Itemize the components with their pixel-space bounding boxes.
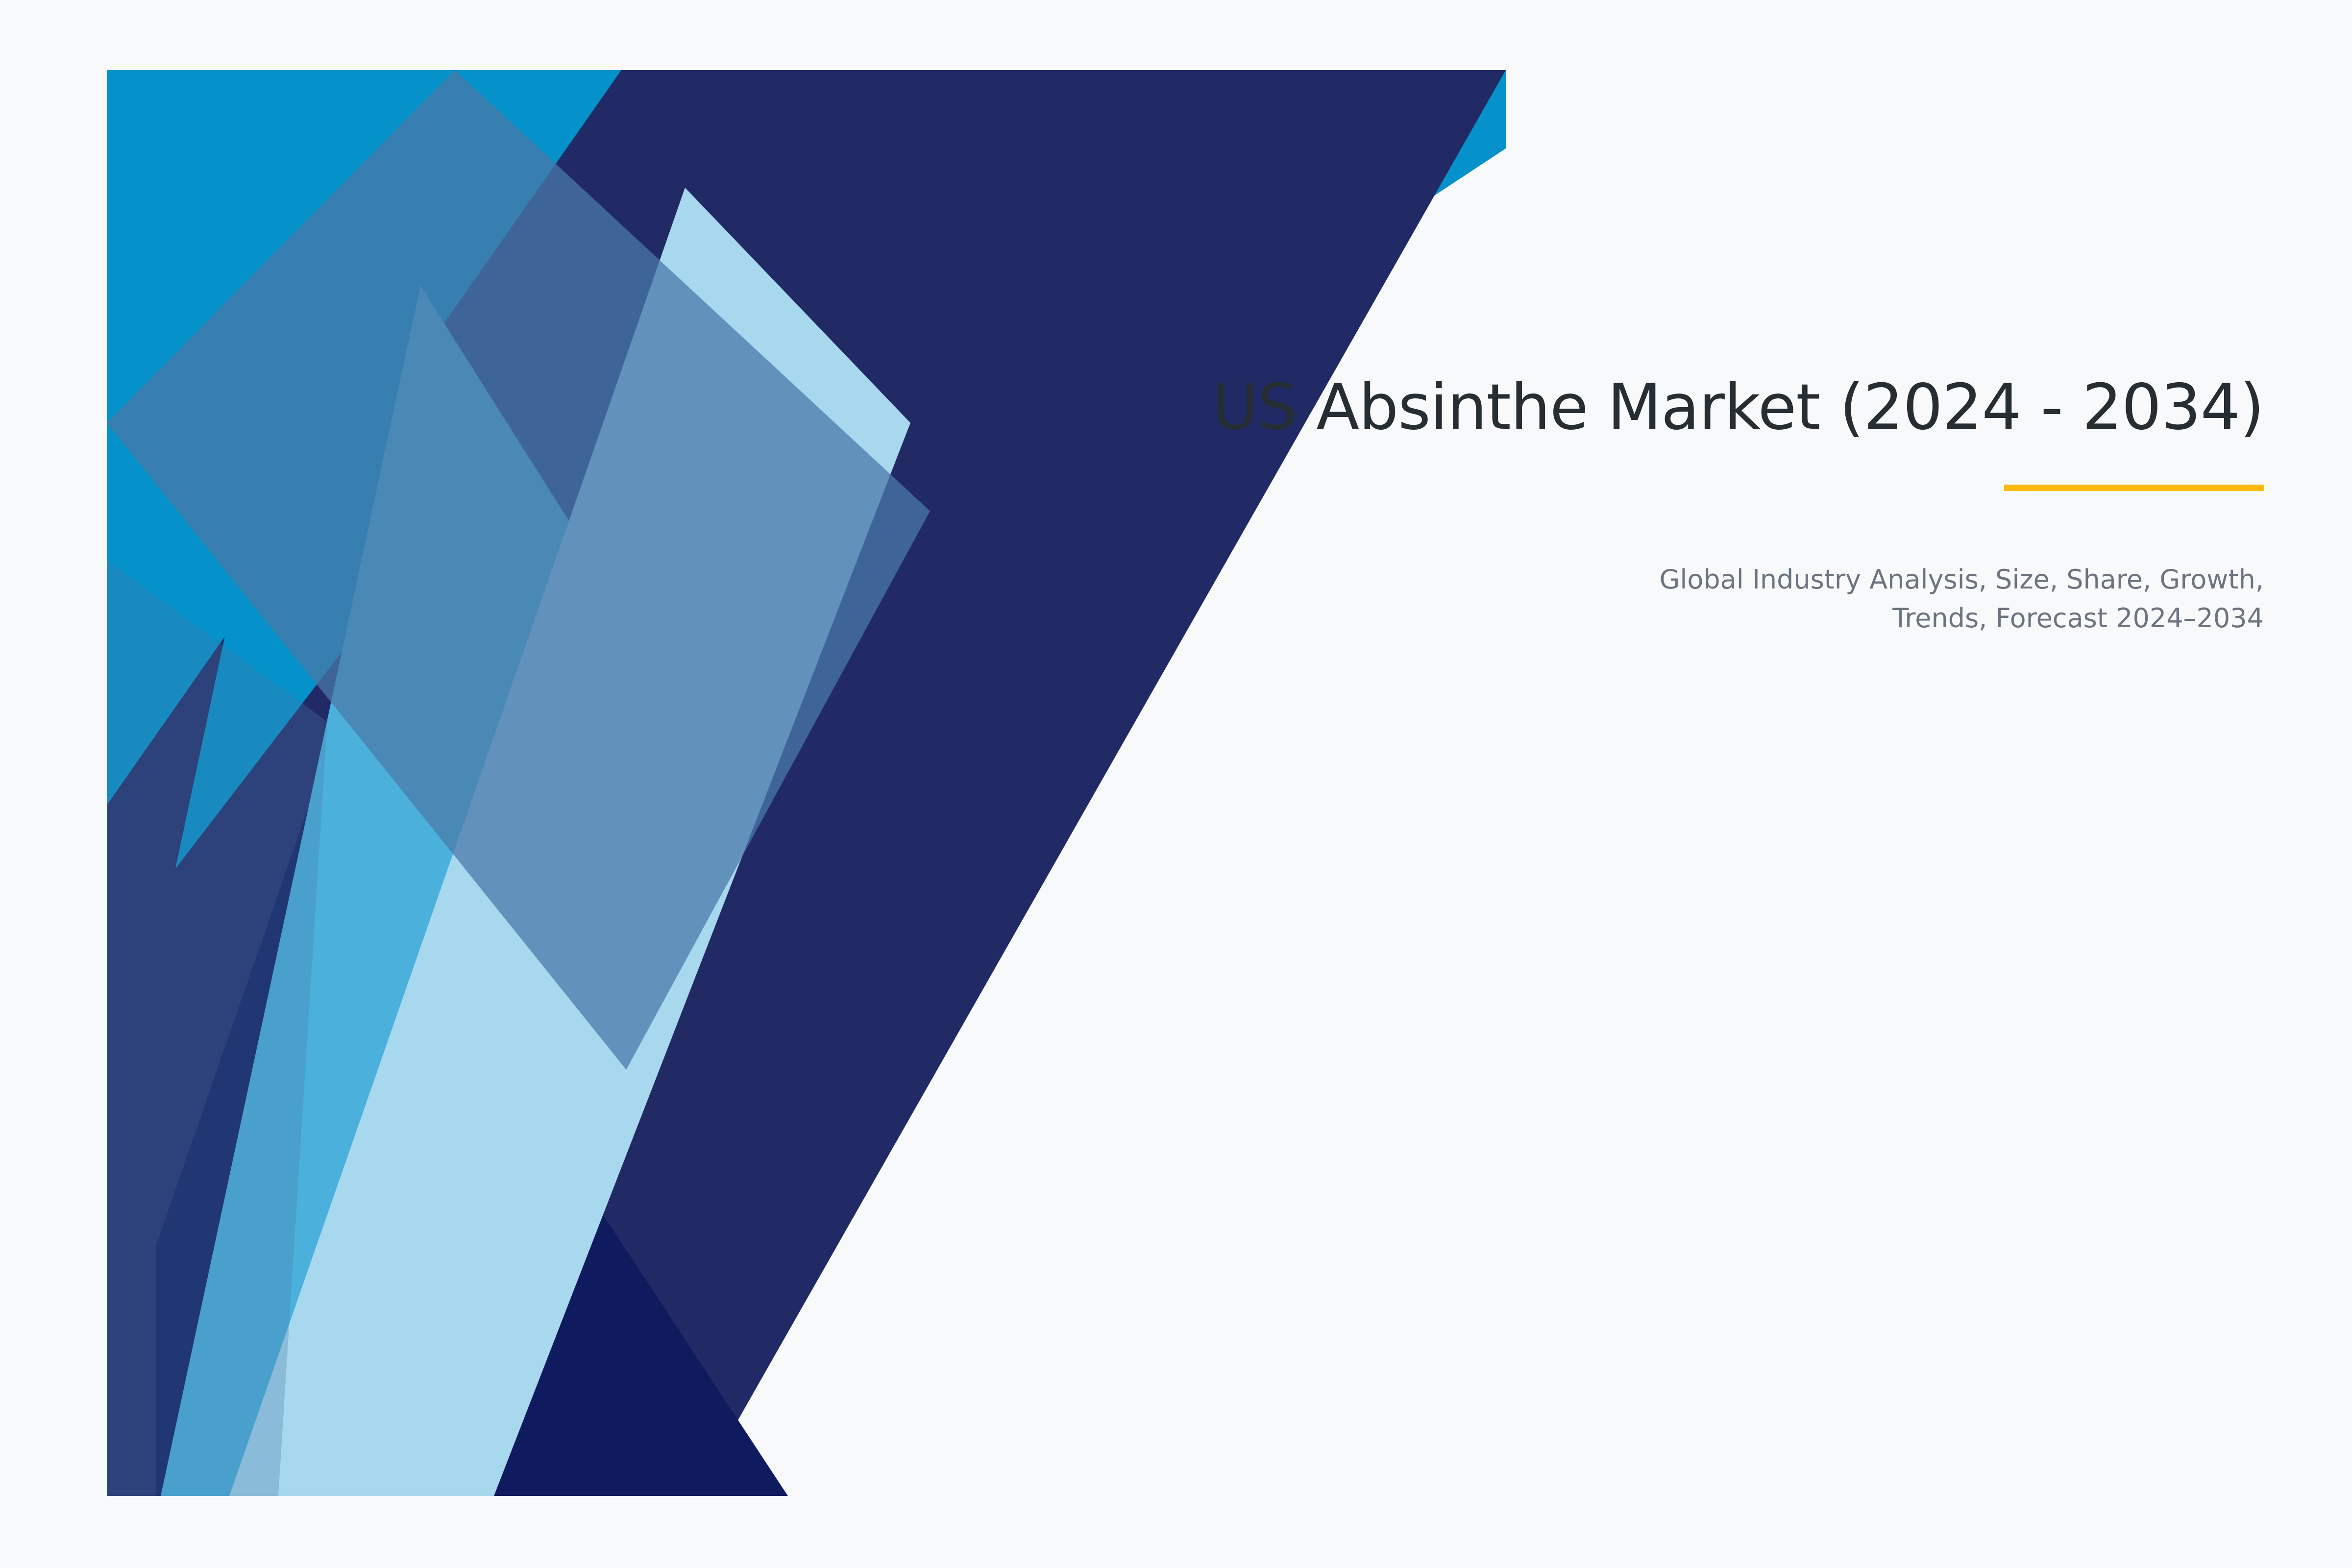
cover-artwork	[107, 70, 1506, 1496]
page-subtitle: Global Industry Analysis, Size, Share, G…	[1632, 561, 2264, 637]
report-cover: US Absinthe Market (2024 - 2034) Global …	[0, 0, 2352, 1568]
cover-text-column: US Absinthe Market (2024 - 2034) Global …	[931, 372, 2264, 637]
accent-rule-container	[931, 485, 2264, 491]
page-title: US Absinthe Market (2024 - 2034)	[931, 372, 2264, 442]
accent-rule	[2004, 485, 2264, 491]
abstract-geometric-graphic	[107, 70, 1506, 1496]
